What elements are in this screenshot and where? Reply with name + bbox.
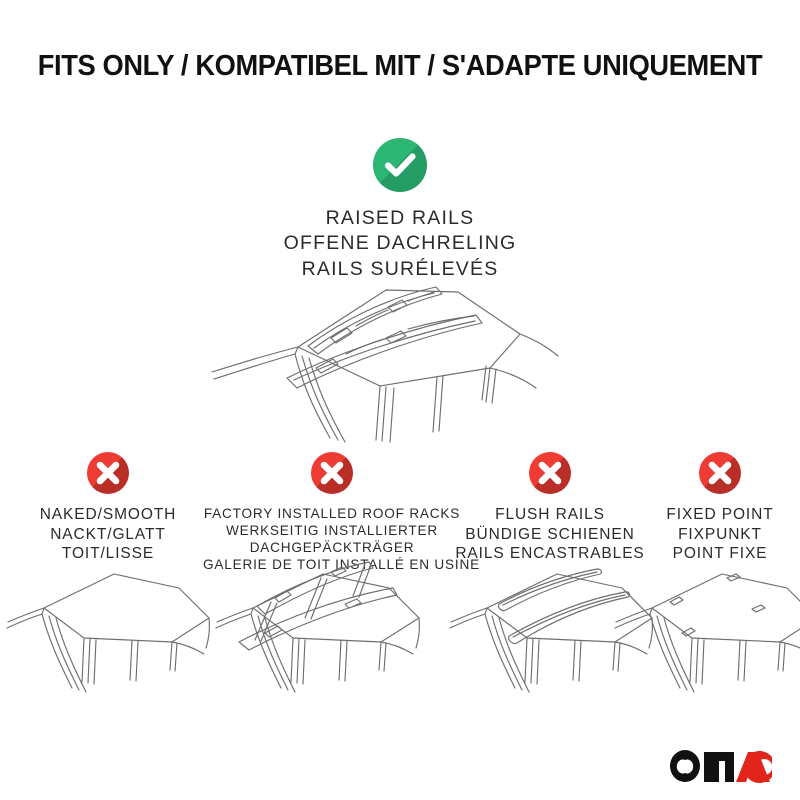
item-labels: NAKED/SMOOTH NACKT/GLATT TOIT/LISSE [8, 505, 208, 564]
item-label-de: FIXPUNKT [640, 525, 800, 545]
x-circle-icon [87, 452, 129, 494]
car-roof-with-fixed-points-illustration [612, 556, 800, 721]
page-title: FITS ONLY / KOMPATIBEL MIT / S'ADAPTE UN… [24, 50, 776, 83]
omac-logo [668, 748, 780, 786]
x-circle-icon [311, 452, 353, 494]
item-label-en: FACTORY INSTALLED ROOF RACKS [203, 505, 461, 522]
incompatible-item-factory-installed-roof-racks: FACTORY INSTALLED ROOF RACKS WERKSEITIG … [203, 452, 461, 574]
incompatible-item-naked-smooth: NAKED/SMOOTH NACKT/GLATT TOIT/LISSE [8, 452, 208, 564]
item-label-en: FLUSH RAILS [455, 505, 645, 525]
logo-letter-o [670, 750, 700, 782]
incompatible-item-fixed-point: FIXED POINT FIXPUNKT POINT FIXE [640, 452, 800, 564]
item-label-en: NAKED/SMOOTH [8, 505, 208, 525]
logo-letter-m [704, 752, 734, 782]
compatible-label-de: OFFENE DACHRELING [0, 231, 800, 256]
item-label-de: NACKT/GLATT [8, 525, 208, 545]
item-labels: FLUSH RAILS BÜNDIGE SCHIENEN RAILS ENCAS… [455, 505, 645, 564]
car-roof-naked-smooth-illustration [4, 556, 214, 721]
compatible-section: RAISED RAILS OFFENE DACHRELING RAILS SUR… [0, 138, 800, 282]
item-labels: FIXED POINT FIXPUNKT POINT FIXE [640, 505, 800, 564]
car-roof-with-raised-rails-illustration [190, 272, 620, 452]
item-label-de-1: WERKSEITIG INSTALLIERTER [203, 522, 461, 539]
item-label-de: BÜNDIGE SCHIENEN [455, 525, 645, 545]
item-label-en: FIXED POINT [640, 505, 800, 525]
x-circle-icon [529, 452, 571, 494]
header: FITS ONLY / KOMPATIBEL MIT / S'ADAPTE UN… [0, 50, 800, 83]
x-circle-icon [699, 452, 741, 494]
compatible-labels: RAISED RAILS OFFENE DACHRELING RAILS SUR… [0, 206, 800, 282]
check-circle-icon [373, 138, 427, 192]
compatible-label-en: RAISED RAILS [0, 206, 800, 231]
car-roof-with-factory-crossbars-illustration [205, 550, 455, 725]
incompatible-item-flush-rails: FLUSH RAILS BÜNDIGE SCHIENEN RAILS ENCAS… [455, 452, 645, 564]
